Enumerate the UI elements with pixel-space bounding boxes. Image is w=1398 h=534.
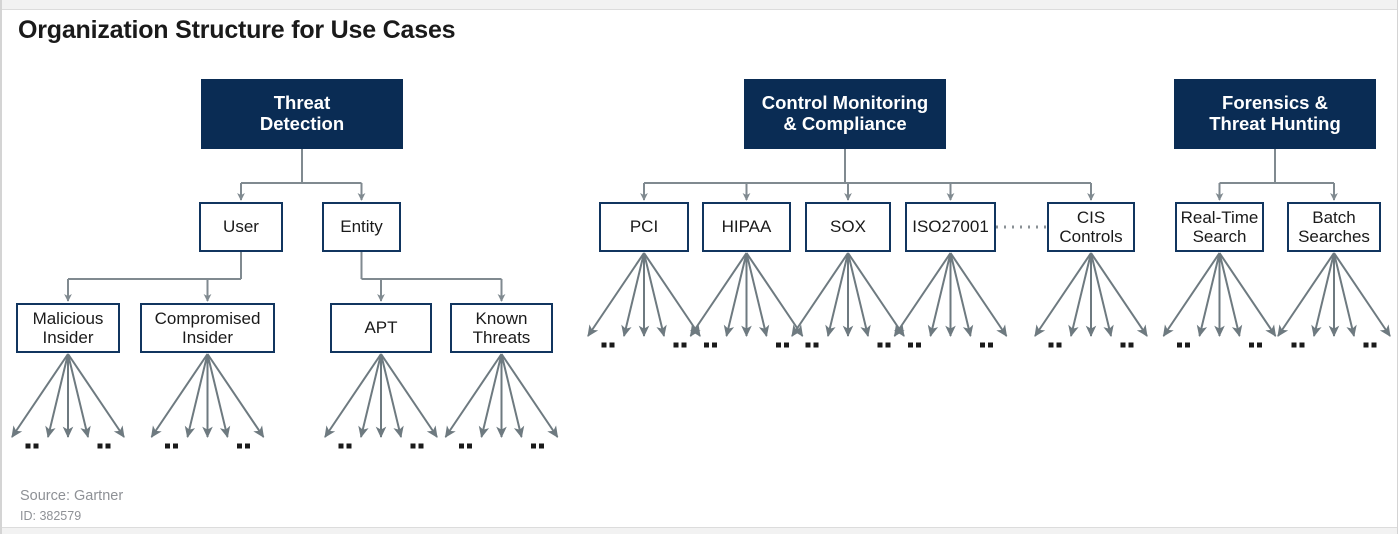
node-sox[interactable]: SOX — [805, 202, 891, 252]
node-label: HIPAA — [722, 217, 772, 236]
top-border-strip — [2, 0, 1398, 10]
node-forensics-threat-hunting[interactable]: Forensics & Threat Hunting — [1174, 79, 1376, 149]
node-entity[interactable]: Entity — [322, 202, 401, 252]
node-label: SOX — [830, 217, 866, 236]
node-batch-searches[interactable]: Batch Searches — [1287, 202, 1381, 252]
node-label: Known Threats — [473, 309, 531, 347]
node-iso27001[interactable]: ISO27001 — [905, 202, 996, 252]
node-apt[interactable]: APT — [330, 303, 432, 353]
node-label: Compromised Insider — [155, 309, 261, 347]
node-cis-controls[interactable]: CIS Controls — [1047, 202, 1135, 252]
node-label: Real-Time Search — [1181, 208, 1259, 246]
node-known-threats[interactable]: Known Threats — [450, 303, 553, 353]
node-threat-detection[interactable]: Threat Detection — [201, 79, 403, 149]
node-real-time-search[interactable]: Real-Time Search — [1175, 202, 1264, 252]
node-label: Entity — [340, 217, 383, 236]
page-title: Organization Structure for Use Cases — [18, 16, 455, 45]
node-label: CIS Controls — [1059, 208, 1122, 246]
node-label: User — [223, 217, 259, 236]
bottom-border-strip — [2, 527, 1398, 534]
node-label: Malicious Insider — [33, 309, 104, 347]
node-user[interactable]: User — [199, 202, 283, 252]
diagram-root: Organization Structure for Use Cases Thr… — [0, 0, 1398, 534]
node-pci[interactable]: PCI — [599, 202, 689, 252]
node-malicious-insider[interactable]: Malicious Insider — [16, 303, 120, 353]
node-label: APT — [364, 318, 397, 337]
node-label: PCI — [630, 217, 658, 236]
node-compromised-insider[interactable]: Compromised Insider — [140, 303, 275, 353]
id-label: ID: 382579 — [20, 509, 81, 523]
node-label: Forensics & Threat Hunting — [1209, 93, 1341, 134]
source-label: Source: Gartner — [20, 488, 123, 504]
node-label: ISO27001 — [912, 217, 989, 236]
node-label: Batch Searches — [1298, 208, 1370, 246]
node-label: Control Monitoring & Compliance — [762, 93, 928, 134]
node-label: Threat Detection — [260, 93, 344, 134]
node-hipaa[interactable]: HIPAA — [702, 202, 791, 252]
node-control-monitoring-compliance[interactable]: Control Monitoring & Compliance — [744, 79, 946, 149]
